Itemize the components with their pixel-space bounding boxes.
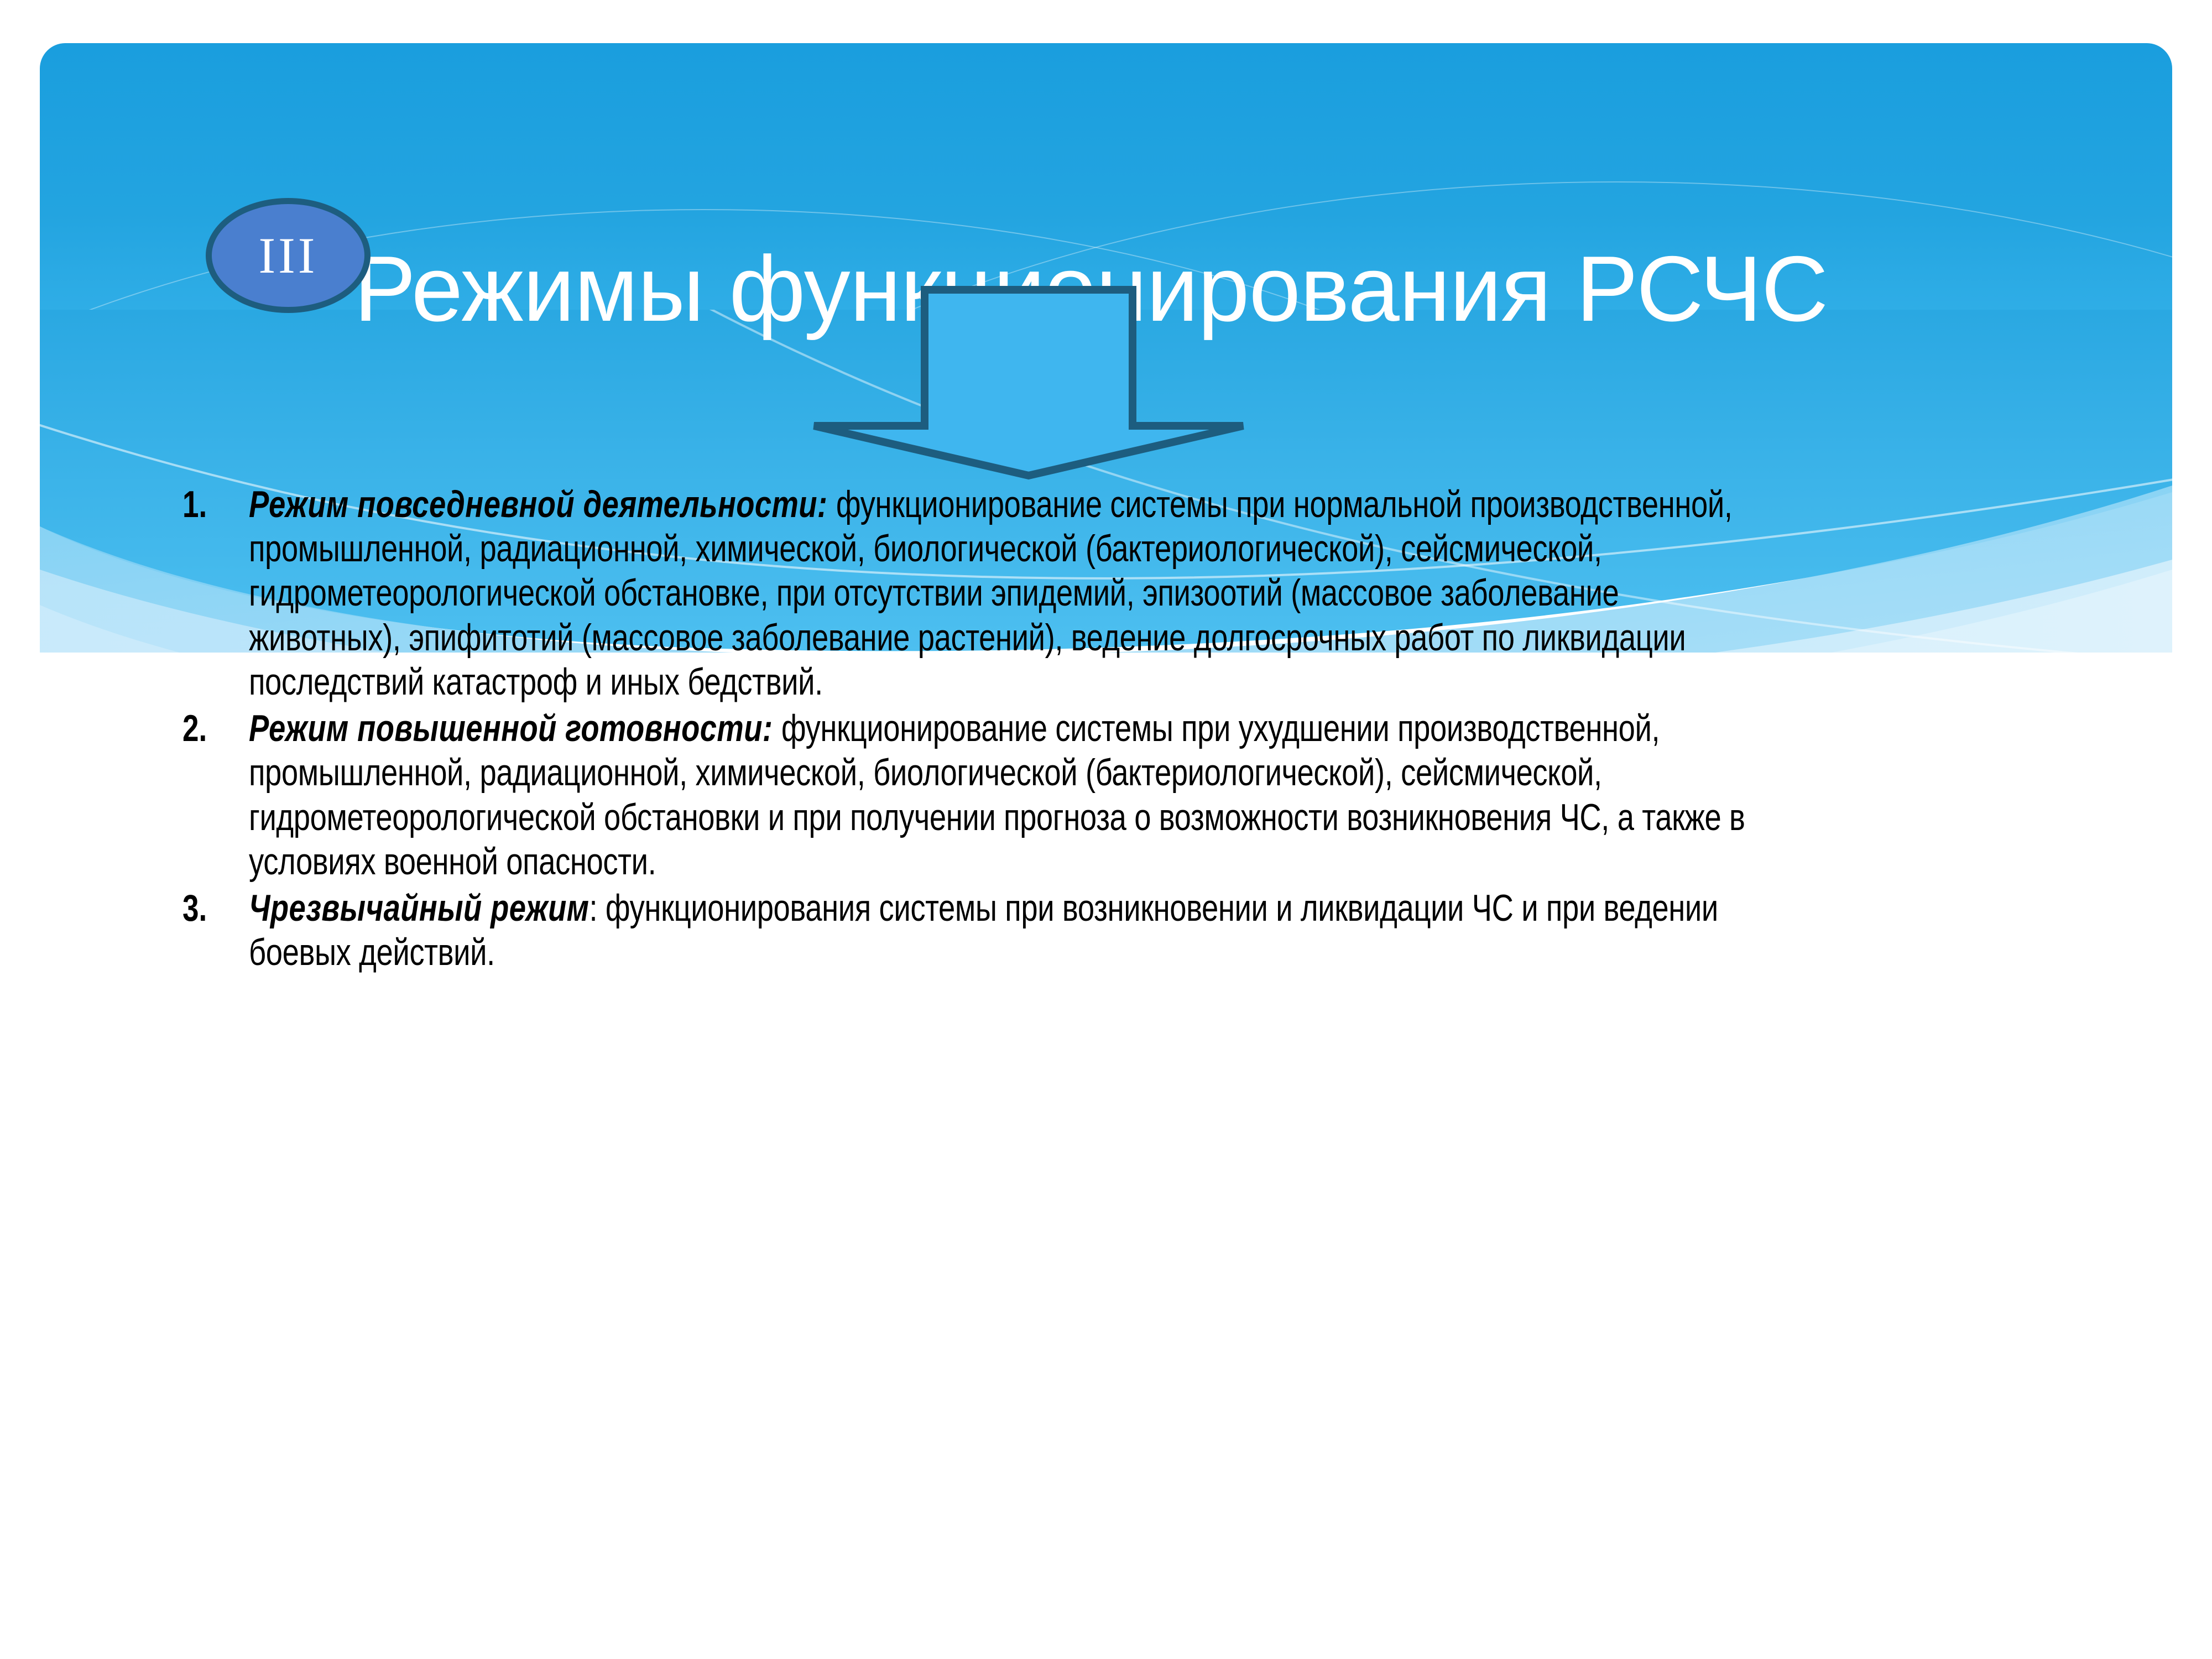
list-item-lead: Режим повышенной готовности <box>249 707 763 749</box>
list-item-body: Режим повышенной готовности: функциониро… <box>249 706 1753 884</box>
presentation-slide: III Режимы функционирования РСЧС 1. Режи… <box>0 0 2212 1659</box>
list-item: 1. Режим повседневной деятельности: функ… <box>182 482 2129 704</box>
list-item-body: Чрезвычайный режим: функционирования сис… <box>249 886 1753 974</box>
list-item-lead: Чрезвычайный режим <box>249 887 589 929</box>
content-list: 1. Режим повседневной деятельности: функ… <box>182 482 2129 975</box>
slide-number-badge-label: III <box>259 230 318 281</box>
list-item-separator: : <box>589 887 605 929</box>
list-item-body: Режим повседневной деятельности: функцио… <box>249 482 1753 704</box>
down-arrow-icon <box>807 282 1250 481</box>
list-item-lead: Режим повседневной деятельности <box>249 483 817 525</box>
list-item-number: 1. <box>182 482 234 526</box>
list-item-number: 2. <box>182 706 234 750</box>
list-item: 2. Режим повышенной готовности: функцион… <box>182 706 2129 884</box>
slide-number-badge: III <box>206 198 371 313</box>
list-item: 3. Чрезвычайный режим: функционирования … <box>182 886 2129 974</box>
list-item-number: 3. <box>182 886 234 930</box>
list-item-separator: : <box>763 707 781 749</box>
list-item-separator: : <box>817 483 836 525</box>
